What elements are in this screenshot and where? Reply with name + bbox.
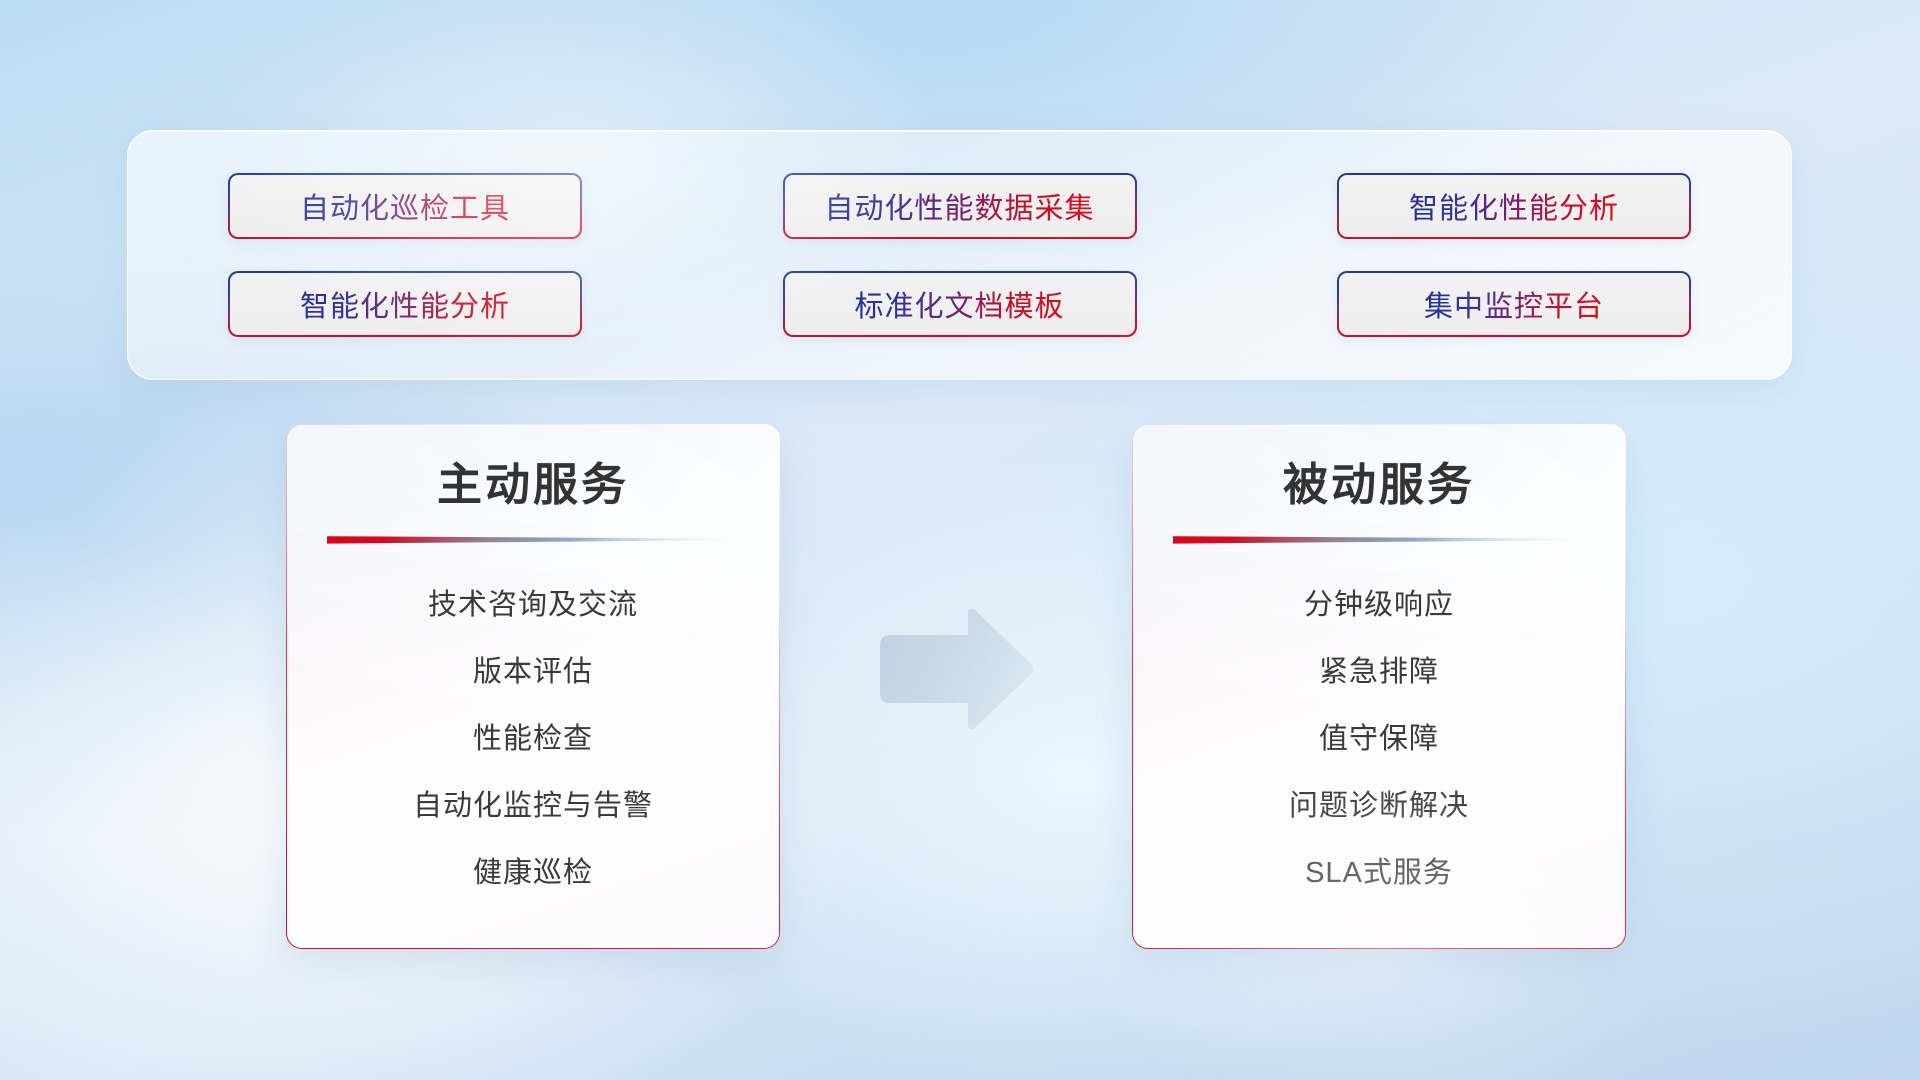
service-card-item: 健康巡检 [327, 840, 739, 907]
service-card-item: 紧急排障 [1173, 639, 1585, 706]
capability-tag-label: 标准化文档模板 [854, 283, 1064, 325]
service-card-item: 性能检查 [327, 706, 739, 773]
service-card-item: 分钟级响应 [1173, 572, 1585, 639]
capability-tag-row-1: 自动化巡检工具 自动化性能数据采集 智能化性能分析 [228, 173, 1691, 239]
title-divider [327, 534, 739, 546]
capability-tag-intelligent-performance-analysis-1[interactable]: 智能化性能分析 [1337, 173, 1691, 239]
capability-tag-intelligent-performance-analysis-2[interactable]: 智能化性能分析 [228, 271, 582, 337]
capability-tag-automated-performance-data-collection[interactable]: 自动化性能数据采集 [783, 173, 1137, 239]
capability-tag-label: 智能化性能分析 [300, 283, 510, 325]
service-card-title: 被动服务 [1173, 461, 1585, 508]
capability-tag-centralized-monitoring-platform[interactable]: 集中监控平台 [1337, 271, 1691, 337]
service-card-passive: 被动服务 分钟级响应 紧急排障 值守保障 [1132, 424, 1626, 949]
service-card-item: 技术咨询及交流 [327, 572, 739, 639]
capability-tag-label: 集中监控平台 [1424, 283, 1604, 325]
right-arrow-icon [872, 605, 1037, 735]
service-card-item: SLA式服务 [1173, 840, 1585, 907]
capability-tag-label: 自动化巡检工具 [300, 185, 510, 227]
service-card-item: 值守保障 [1173, 706, 1585, 773]
service-card-title: 主动服务 [327, 461, 739, 508]
service-card-item: 自动化监控与告警 [327, 773, 739, 840]
capability-tag-automated-inspection-tool[interactable]: 自动化巡检工具 [228, 173, 582, 239]
capability-tag-standardized-document-template[interactable]: 标准化文档模板 [783, 271, 1137, 337]
service-card-active: 主动服务 技术咨询及交流 版本评估 性能检查 [286, 424, 780, 949]
capability-tag-label: 智能化性能分析 [1409, 185, 1619, 227]
service-card-item: 版本评估 [327, 639, 739, 706]
capability-tag-row-2: 智能化性能分析 标准化文档模板 集中监控平台 [228, 271, 1691, 337]
diagram-stage: 自动化巡检工具 自动化性能数据采集 智能化性能分析 智能化性能分析 标准化文档模… [0, 0, 1920, 1080]
capability-tag-label: 自动化性能数据采集 [824, 185, 1094, 227]
service-card-item-list: 分钟级响应 紧急排障 值守保障 问题诊断解决 SLA式服务 [1173, 572, 1585, 907]
title-divider [1173, 534, 1585, 546]
capability-tags-panel: 自动化巡检工具 自动化性能数据采集 智能化性能分析 智能化性能分析 标准化文档模… [127, 130, 1792, 380]
service-card-item: 问题诊断解决 [1173, 773, 1585, 840]
service-card-item-list: 技术咨询及交流 版本评估 性能检查 自动化监控与告警 健康巡检 [327, 572, 739, 907]
